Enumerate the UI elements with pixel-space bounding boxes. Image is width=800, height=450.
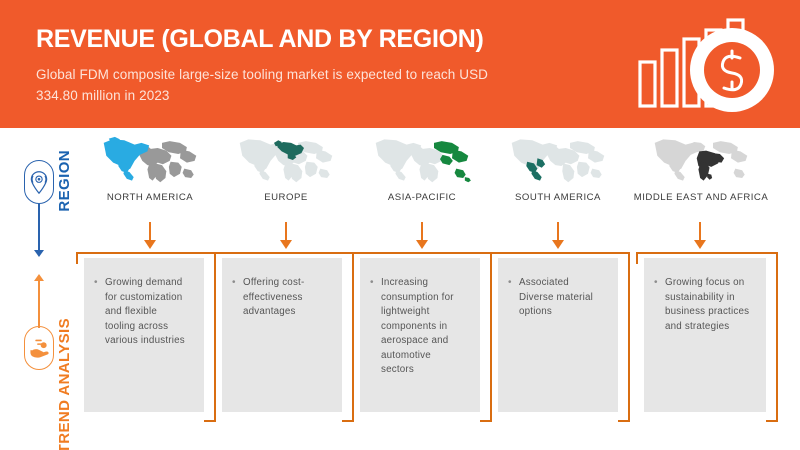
list-item: • Offering cost-effectiveness advantages [232,276,328,320]
world-map-europe-highlighted-icon [218,136,354,184]
bullet-icon: • [232,276,243,291]
trend-bullet-text: Growing demand for customization and fle… [105,276,190,349]
trend-card-body: • Growing focus on sustainability in bus… [644,258,766,412]
trend-card-body: • Increasing consumption for lightweight… [360,258,480,412]
region-name: EUROPE [218,192,354,203]
rail-label-trend-analysis: TREND ANALYSIS [56,318,73,450]
trend-bullet-list: • Growing focus on sustainability in bus… [644,258,766,344]
bullet-icon: • [370,276,381,291]
region-arrow-down-icon [34,250,44,257]
trend-card-europe: • Offering cost-effectiveness advantages [216,252,354,420]
trend-card-body: • Growing demand for customization and f… [84,258,204,412]
list-item: • Growing demand for customization and f… [94,276,190,349]
location-pin-icon [24,160,54,204]
trend-card-asia-pacific: • Increasing consumption for lightweight… [354,252,492,420]
rail-label-region: REGION [56,150,73,212]
region-column-north-america: NORTH AMERICA [82,136,218,203]
bullet-icon: • [94,276,105,291]
trend-card-middle-east-and-africa: • Growing focus on sustainability in bus… [638,252,778,420]
flow-arrow-down-icon [280,222,292,250]
flow-arrow-down-icon [552,222,564,250]
region-name: MIDDLE EAST AND AFRICA [626,192,776,203]
flow-arrow-down-icon [694,222,706,250]
trend-card-body: • Offering cost-effectiveness advantages [222,258,342,412]
trend-bullet-list: • Increasing consumption for lightweight… [360,258,480,388]
region-name: SOUTH AMERICA [490,192,626,203]
flow-arrow-down-icon [144,222,156,250]
hand-holding-insight-icon [24,326,54,370]
region-name: NORTH AMERICA [82,192,218,203]
trend-bullet-list: • Associated Diverse material options [498,258,618,330]
region-column-middle-east-and-africa: MIDDLE EAST AND AFRICA [626,136,776,203]
bullet-icon: • [654,276,665,291]
list-item: • Associated Diverse material options [508,276,604,320]
page-subtitle: Global FDM composite large-size tooling … [36,64,506,106]
trend-connector-line [38,280,39,328]
list-item: • Increasing consumption for lightweight… [370,276,466,378]
bar-chart-dollar-coin-icon [628,14,788,118]
trend-bullet-text: Growing focus on sustainability in busin… [665,276,752,334]
world-map-north-america-highlighted-icon [82,136,218,184]
region-name: ASIA-PACIFIC [354,192,490,203]
trend-bullet-list: • Growing demand for customization and f… [84,258,204,359]
page-title: REVENUE (GLOBAL AND BY REGION) [36,24,484,54]
region-column-asia-pacific: ASIA-PACIFIC [354,136,490,203]
trend-bullet-list: • Offering cost-effectiveness advantages [222,258,342,330]
flow-arrow-down-icon [416,222,428,250]
world-map-asia-pacific-highlighted-icon [354,136,490,184]
world-map-mea-highlighted-icon [626,136,776,184]
region-column-europe: EUROPE [218,136,354,203]
list-item: • Growing focus on sustainability in bus… [654,276,752,334]
header-banner: REVENUE (GLOBAL AND BY REGION) Global FD… [0,0,800,128]
trend-card-south-america: • Associated Diverse material options [492,252,630,420]
trend-arrow-up-icon [34,274,44,281]
world-map-south-america-highlighted-icon [490,136,626,184]
trend-bullet-text: Associated Diverse material options [519,276,604,320]
region-column-south-america: SOUTH AMERICA [490,136,626,203]
region-connector-line [38,204,39,252]
trend-card-body: • Associated Diverse material options [498,258,618,412]
trend-card-north-america: • Growing demand for customization and f… [78,252,216,420]
trend-bullet-text: Increasing consumption for lightweight c… [381,276,466,378]
bullet-icon: • [508,276,519,291]
trend-bullet-text: Offering cost-effectiveness advantages [243,276,328,320]
infographic-root: REVENUE (GLOBAL AND BY REGION) Global FD… [0,0,800,450]
